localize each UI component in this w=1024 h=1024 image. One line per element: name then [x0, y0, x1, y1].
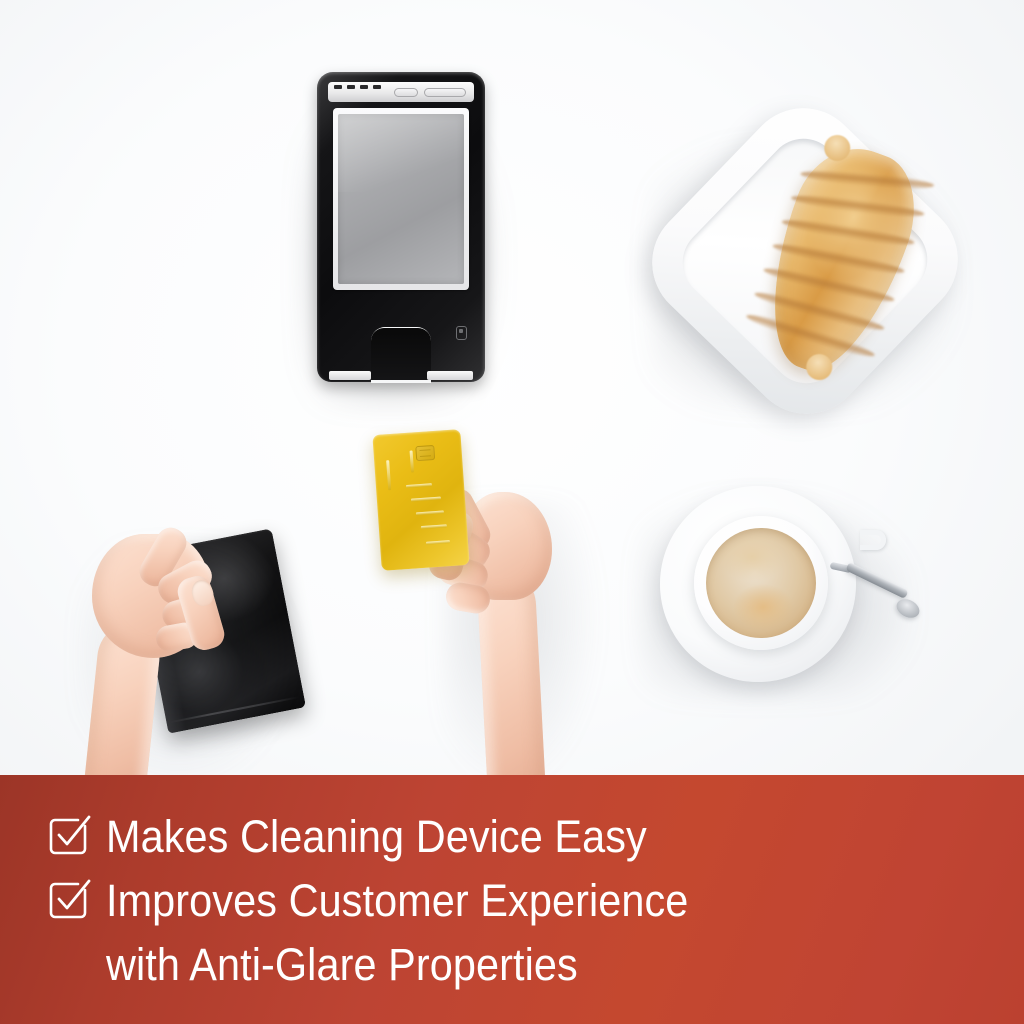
pos-slot-icon [360, 85, 368, 89]
feature-banner: Makes Cleaning Device Easy Improves Cust… [0, 775, 1024, 1024]
checkbox-checked-icon [44, 811, 92, 859]
coffee-cup [648, 480, 938, 700]
pos-terminal-foot-left [329, 371, 371, 380]
coffee-liquid [706, 528, 816, 638]
left-hand-holding-wallet [86, 528, 296, 793]
payment-chip-logo-icon [456, 326, 467, 340]
card-embossed-number [406, 483, 432, 488]
pos-screen[interactable] [338, 114, 464, 284]
pos-terminal-notch-inner [371, 328, 431, 380]
card-chip-icon [415, 445, 435, 461]
croissant-segment [781, 215, 916, 249]
feature-item-continuation: with Anti-Glare Properties [106, 936, 984, 994]
pos-terminal-top-strip [328, 82, 474, 102]
feature-item-label: with Anti-Glare Properties [106, 936, 578, 994]
card-embossed-number [411, 497, 441, 502]
pos-screen-bezel [333, 108, 469, 290]
cup [694, 516, 828, 650]
credit-card [372, 429, 469, 571]
card-embossed-name [426, 540, 450, 545]
pos-slot-icon [373, 85, 381, 89]
pos-terminal-foot-right [427, 371, 473, 380]
card-embossed-mark [386, 460, 391, 490]
cup-handle [860, 530, 886, 550]
feature-item-label: Makes Cleaning Device Easy [106, 808, 647, 866]
right-hand-holding-card [452, 492, 612, 792]
card-embossed-number [421, 524, 447, 529]
pos-button-right[interactable] [424, 88, 466, 97]
pos-button-left[interactable] [394, 88, 418, 97]
feature-list: Makes Cleaning Device Easy Improves Cust… [44, 808, 984, 994]
feature-item-label: Improves Customer Experience [106, 872, 688, 930]
croissant-segment [790, 191, 925, 220]
pos-terminal [317, 72, 485, 382]
pos-terminal-body [317, 72, 485, 382]
pos-screen-glare [338, 114, 464, 192]
croissant-segment [800, 167, 935, 192]
checkbox-checked-icon [44, 875, 92, 923]
feature-item: Makes Cleaning Device Easy [44, 808, 984, 866]
feature-item: Improves Customer Experience [44, 872, 984, 930]
card-embossed-mark [410, 450, 415, 472]
card-embossed-number [416, 510, 444, 515]
croissant-on-plate [660, 128, 960, 400]
pos-slot-icon [334, 85, 342, 89]
pos-slot-icon [347, 85, 355, 89]
product-feature-image: Makes Cleaning Device Easy Improves Cust… [0, 0, 1024, 1024]
